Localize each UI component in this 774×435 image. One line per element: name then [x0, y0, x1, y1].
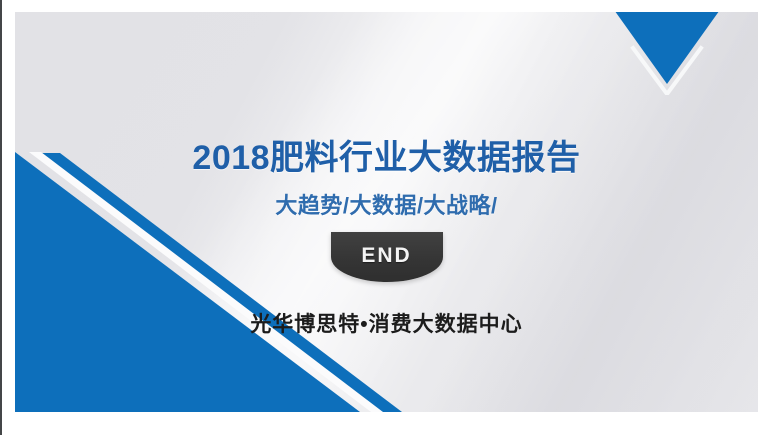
wedge-fill-shape — [15, 152, 360, 412]
end-badge: END — [331, 232, 443, 282]
left-edge-rule — [0, 0, 2, 435]
slide-page: 2018肥料行业大数据报告 大趋势/大数据/大战略/ END 光华博思特•消费大… — [15, 12, 758, 412]
top-right-triangle-group — [575, 12, 735, 95]
down-triangle-icon — [607, 12, 727, 84]
wedge-accent-stripe — [39, 153, 402, 412]
page-subtitle: 大趋势/大数据/大战略/ — [275, 188, 497, 220]
wedge-gap-highlight — [29, 152, 383, 412]
left-blue-wedge — [15, 12, 758, 412]
end-badge-label: END — [361, 245, 411, 266]
footer-organization: 光华博思特•消费大数据中心 — [250, 308, 522, 338]
page-title: 2018肥料行业大数据报告 — [192, 130, 580, 179]
background-sheen-shadow — [15, 12, 758, 412]
chevron-down-icon — [633, 48, 701, 94]
background-sheen-light — [15, 12, 758, 412]
slide-canvas: 2018肥料行业大数据报告 大趋势/大数据/大战略/ END 光华博思特•消费大… — [0, 0, 774, 435]
slide-content: 2018肥料行业大数据报告 大趋势/大数据/大战略/ END 光华博思特•消费大… — [15, 12, 758, 412]
